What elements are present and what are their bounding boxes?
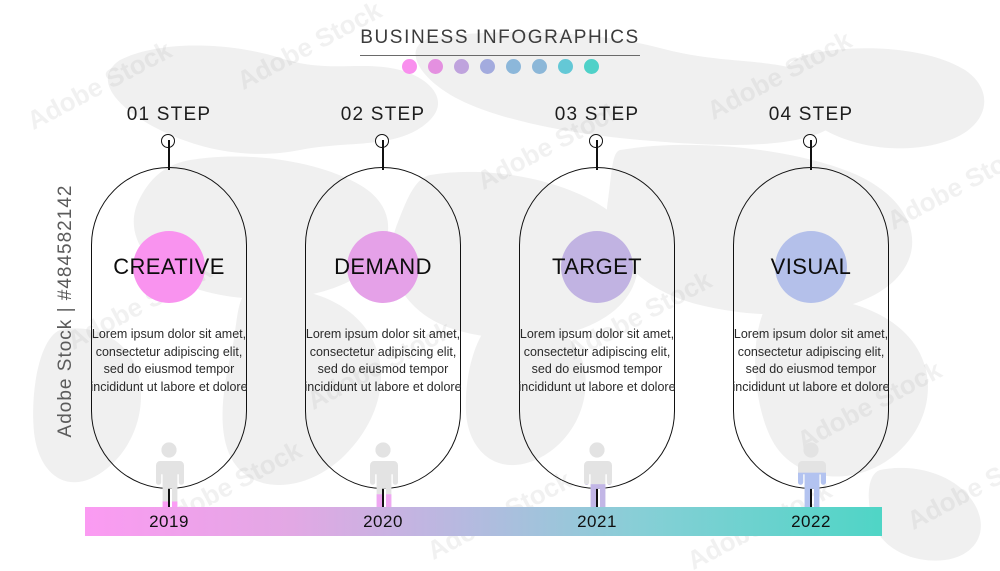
page-title: BUSINESS INFOGRAPHICS — [360, 27, 640, 56]
step-label-4: 04 STEP — [733, 104, 889, 126]
dot-5 — [506, 59, 521, 74]
dot-2 — [428, 59, 443, 74]
stem-1 — [168, 140, 170, 170]
dot-3 — [454, 59, 469, 74]
step-label-2: 02 STEP — [305, 104, 461, 126]
step-body-1: Lorem ipsum dolor sit amet, consectetur … — [85, 326, 253, 396]
step-body-2: Lorem ipsum dolor sit amet, consectetur … — [299, 326, 467, 396]
dot-6 — [532, 59, 547, 74]
step-label-3: 03 STEP — [519, 104, 675, 126]
infographic-canvas: Adobe Stock Adobe Stock Adobe Stock Adob… — [0, 0, 1000, 571]
year-label-3: 2021 — [519, 508, 675, 535]
stock-watermark: Adobe Stock | #484582142 — [55, 181, 77, 441]
stem-3 — [596, 140, 598, 170]
step-body-3: Lorem ipsum dolor sit amet, consectetur … — [513, 326, 681, 396]
dot-row — [0, 59, 1000, 74]
step-body-4: Lorem ipsum dolor sit amet, consectetur … — [727, 326, 895, 396]
stem-2 — [382, 140, 384, 170]
step-heading-4: VISUAL — [733, 254, 889, 280]
year-label-1: 2019 — [91, 508, 247, 535]
title-block: BUSINESS INFOGRAPHICS — [0, 27, 1000, 56]
dot-8 — [584, 59, 599, 74]
step-heading-2: DEMAND — [305, 254, 461, 280]
dot-1 — [402, 59, 417, 74]
watermark-tile: Adobe Stock — [882, 135, 1000, 237]
step-heading-1: CREATIVE — [91, 254, 247, 280]
step-label-1: 01 STEP — [91, 104, 247, 126]
year-label-4: 2022 — [733, 508, 889, 535]
dot-4 — [480, 59, 495, 74]
watermark-tile: Adobe Stock — [902, 435, 1000, 537]
dot-7 — [558, 59, 573, 74]
step-heading-3: TARGET — [519, 254, 675, 280]
year-label-2: 2020 — [305, 508, 461, 535]
stem-4 — [810, 140, 812, 170]
